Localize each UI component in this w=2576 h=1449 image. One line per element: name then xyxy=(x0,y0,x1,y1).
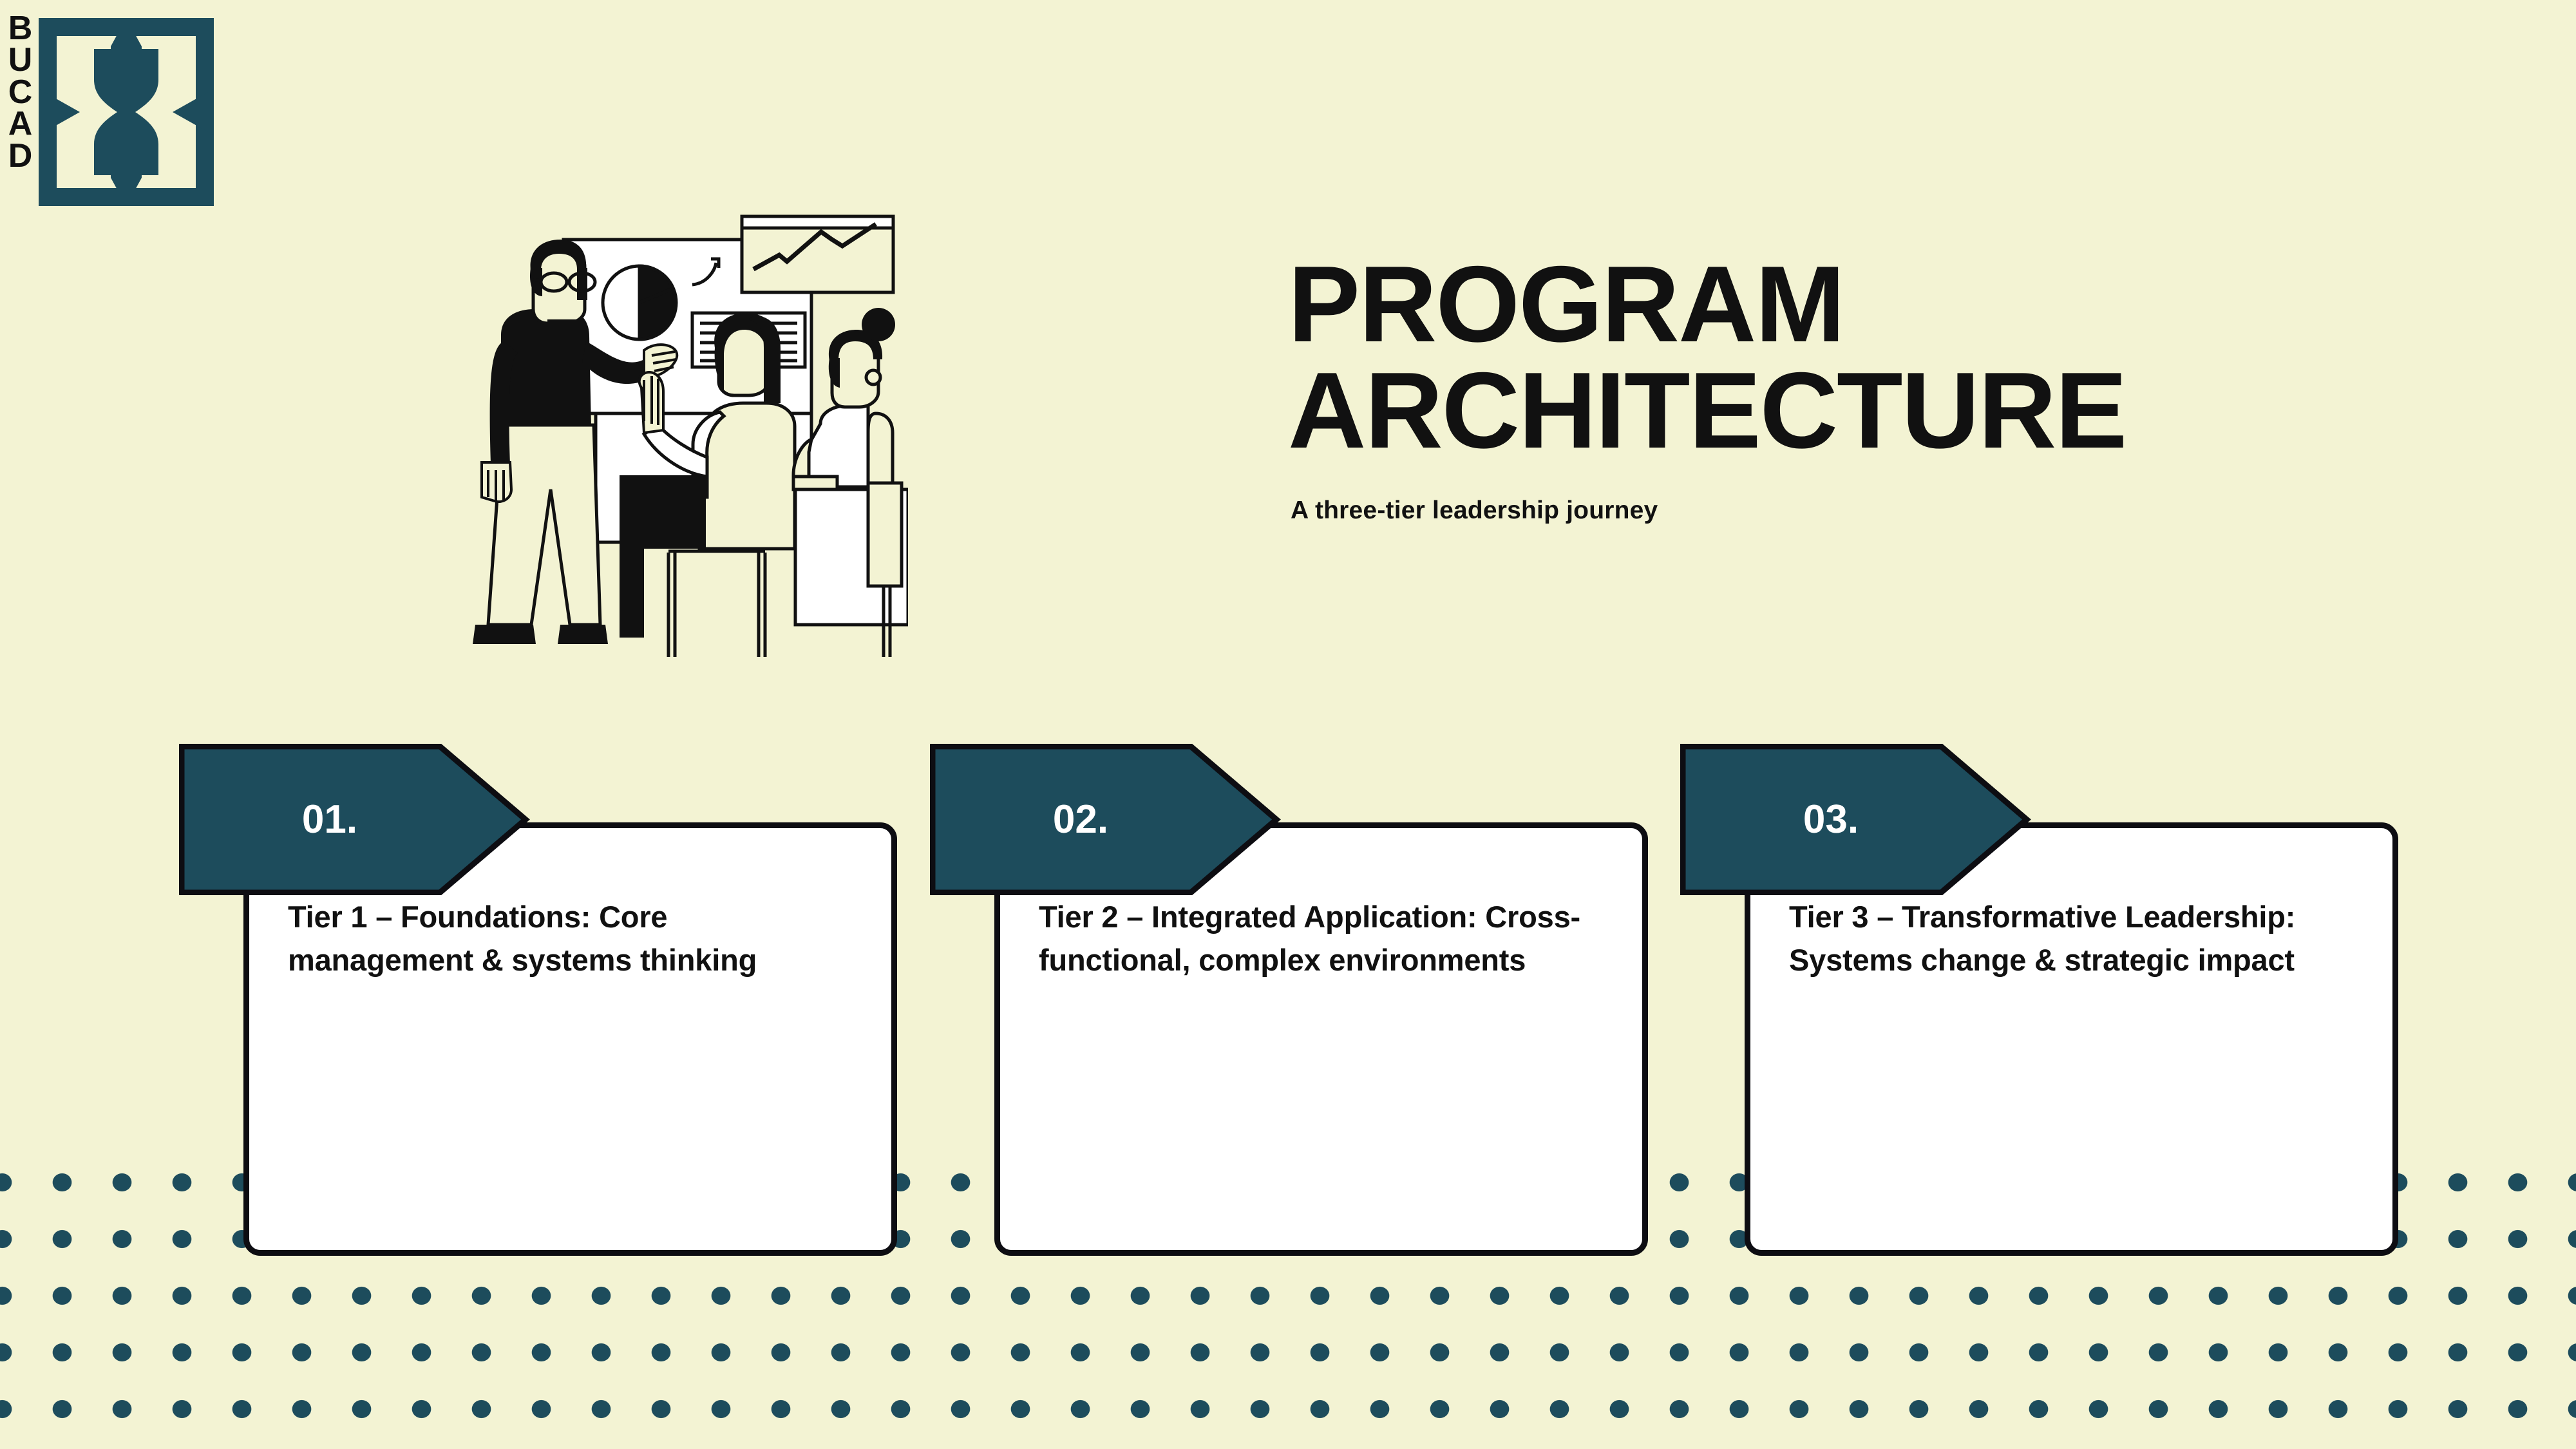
bucad-hourglass-mark-icon xyxy=(39,18,214,206)
header-block: PROGRAM ARCHITECTURE A three-tier leader… xyxy=(1288,251,2512,525)
brand-logo[interactable]: B U C A D xyxy=(0,5,213,205)
page-title-line-1: PROGRAM xyxy=(1288,243,1844,365)
tier-card-3-text: Tier 3 – Transformative Leadership: Syst… xyxy=(1789,896,2356,981)
logo-letter-d: D xyxy=(8,140,32,172)
logo-letter-c: C xyxy=(8,77,32,108)
logo-letter-a: A xyxy=(8,108,32,140)
brand-logo-letters: B U C A D xyxy=(0,13,40,172)
tier-card-2[interactable]: Tier 2 – Integrated Application: Cross-f… xyxy=(994,744,1648,1262)
tier-card-3-banner: 03. xyxy=(1680,744,2031,895)
tier-card-2-banner: 02. xyxy=(930,744,1281,895)
logo-letter-u: U xyxy=(8,44,32,76)
page-subtitle: A three-tier leadership journey xyxy=(1291,497,2512,525)
tier-cards-container: Tier 1 – Foundations: Core management & … xyxy=(0,0,2576,1449)
slide-canvas: B U C A D xyxy=(0,0,2576,1449)
tier-card-1-number: 01. xyxy=(179,744,469,895)
tier-card-2-number: 02. xyxy=(930,744,1220,895)
tier-card-3[interactable]: Tier 3 – Transformative Leadership: Syst… xyxy=(1745,744,2398,1262)
team-presentation-illustration xyxy=(451,187,908,657)
tier-card-2-text: Tier 2 – Integrated Application: Cross-f… xyxy=(1039,896,1605,981)
logo-letter-b: B xyxy=(8,13,32,44)
tier-card-3-number: 03. xyxy=(1680,744,1970,895)
tier-card-1-text: Tier 1 – Foundations: Core management & … xyxy=(288,896,855,981)
tier-card-1-banner: 01. xyxy=(179,744,530,895)
page-title: PROGRAM ARCHITECTURE xyxy=(1288,251,2512,463)
page-title-line-2: ARCHITECTURE xyxy=(1288,350,2126,471)
tier-card-1[interactable]: Tier 1 – Foundations: Core management & … xyxy=(243,744,897,1262)
